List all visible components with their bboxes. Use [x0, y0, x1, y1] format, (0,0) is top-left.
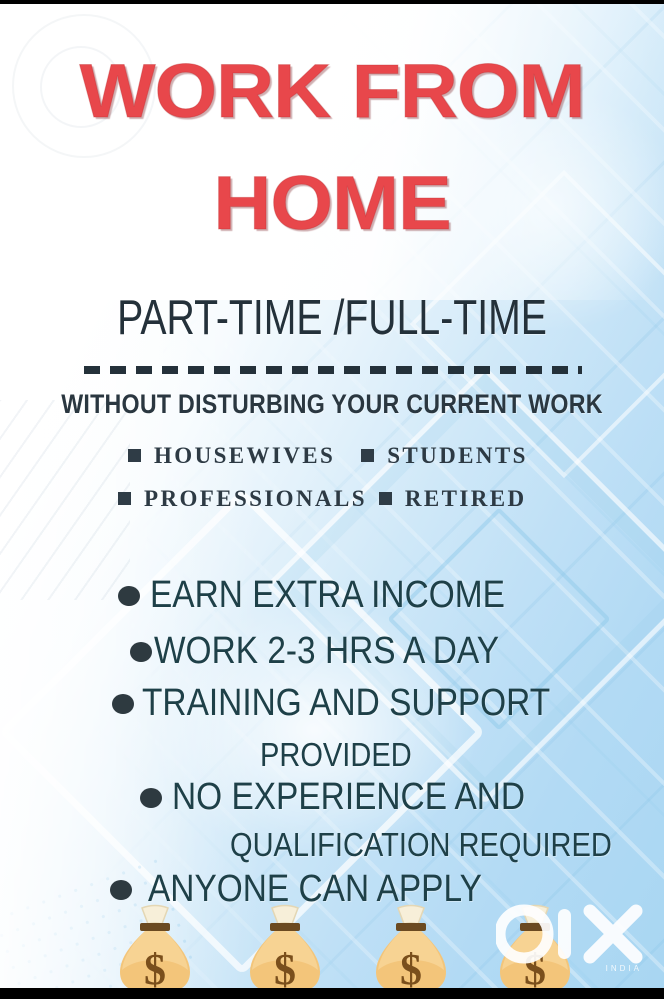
round-bullet-icon — [130, 642, 152, 662]
audience-item-students: STUDENTS — [387, 443, 528, 469]
letterbox-bar-top — [0, 0, 664, 4]
audience-list: HOUSEWIVES STUDENTS PROFESSIONALS RETIRE… — [118, 440, 558, 526]
headline-line-1: WORK FROM — [0, 56, 664, 128]
svg-text:$: $ — [144, 945, 166, 994]
subheadline: PART-TIME /FULL-TIME — [66, 290, 597, 346]
money-bag-icon: $ — [112, 902, 198, 994]
benefit-label: TRAINING AND SUPPORT — [142, 682, 550, 725]
letterbox-bar-bottom — [0, 988, 664, 999]
audience-item-retired: RETIRED — [405, 486, 527, 512]
square-bullet-icon — [379, 492, 392, 505]
benefit-label: WORK 2-3 HRS A DAY — [154, 630, 499, 673]
audience-item-professionals: PROFESSIONALS — [144, 486, 367, 512]
money-bag-icon: $ — [368, 902, 454, 994]
tagline: WITHOUT DISTURBING YOUR CURRENT WORK — [46, 389, 617, 420]
square-bullet-icon — [118, 492, 131, 505]
poster-content: WORK FROM HOME PART-TIME /FULL-TIME WITH… — [0, 0, 664, 999]
square-bullet-icon — [128, 449, 141, 462]
audience-row: PROFESSIONALS RETIRED — [118, 483, 558, 514]
olx-watermark-region: INDIA — [606, 964, 642, 973]
benefit-item-training-support: TRAINING AND SUPPORT — [112, 682, 606, 725]
olx-watermark-logo — [496, 903, 648, 965]
round-bullet-icon — [118, 586, 140, 606]
round-bullet-icon — [140, 788, 162, 808]
benefit-label-continuation-qualification: QUALIFICATION REQUIRED — [230, 826, 612, 864]
svg-text:$: $ — [400, 945, 422, 994]
benefit-label: EARN EXTRA INCOME — [150, 574, 505, 617]
round-bullet-icon — [112, 694, 134, 714]
square-bullet-icon — [361, 449, 374, 462]
benefit-item-no-experience: NO EXPERIENCE AND — [140, 776, 573, 819]
audience-row: HOUSEWIVES STUDENTS — [118, 440, 558, 471]
benefit-item-earn-extra-income: EARN EXTRA INCOME — [118, 574, 553, 617]
headline-line-2: HOME — [0, 168, 664, 240]
benefit-label-continuation-provided: PROVIDED — [260, 736, 412, 774]
dashed-divider — [84, 366, 582, 374]
svg-text:$: $ — [274, 945, 296, 994]
benefit-item-work-hours: WORK 2-3 HRS A DAY — [130, 630, 546, 673]
audience-item-housewives: HOUSEWIVES — [154, 443, 335, 469]
benefit-label: NO EXPERIENCE AND — [172, 776, 525, 819]
poster-image: WORK FROM HOME PART-TIME /FULL-TIME WITH… — [0, 0, 664, 999]
money-bag-icon: $ — [242, 902, 328, 994]
